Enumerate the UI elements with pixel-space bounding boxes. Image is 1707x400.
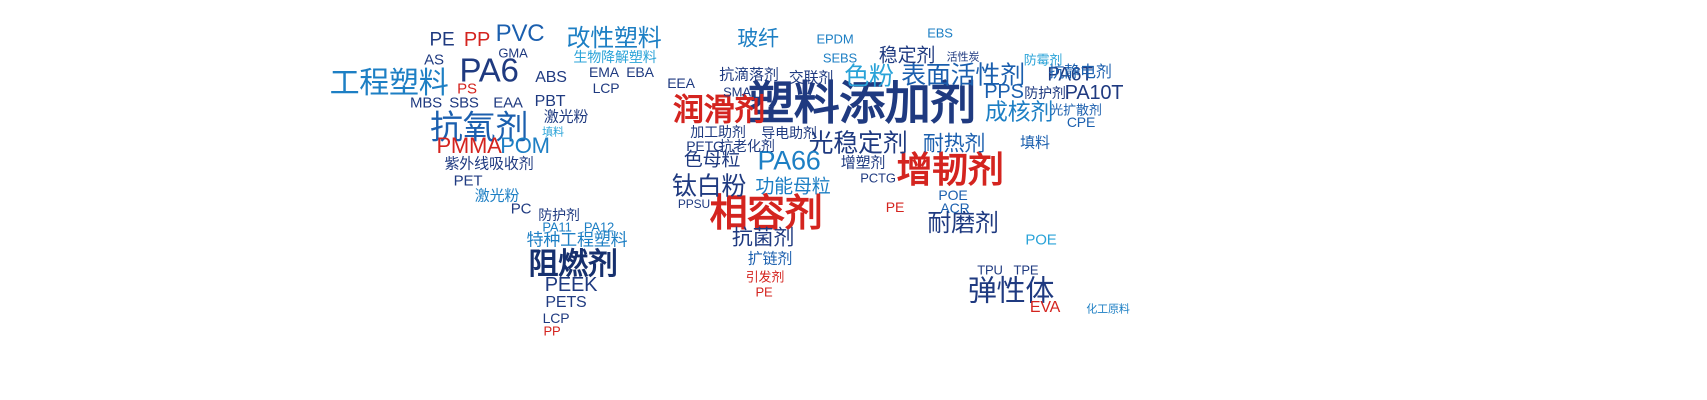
- wordcloud-term[interactable]: EVA: [1030, 300, 1060, 316]
- wordcloud-term[interactable]: 功能母粒: [755, 178, 830, 197]
- wordcloud-term[interactable]: 紫外线吸收剂: [444, 157, 533, 172]
- wordcloud-term[interactable]: PETG: [686, 139, 724, 153]
- wordcloud-term[interactable]: TPE: [1014, 264, 1039, 277]
- wordcloud-term[interactable]: 防霉剂: [1024, 54, 1063, 67]
- wordcloud-term[interactable]: PETS: [545, 295, 586, 311]
- wordcloud-term[interactable]: PPSU: [678, 198, 710, 210]
- wordcloud-term[interactable]: 色粉: [844, 65, 894, 90]
- wordcloud-term[interactable]: 抗老化剂: [719, 139, 774, 153]
- wordcloud-term[interactable]: 化工原料: [1086, 305, 1130, 316]
- wordcloud-term[interactable]: SEBS: [823, 52, 857, 65]
- wordcloud-term[interactable]: 抗菌剂: [732, 228, 794, 249]
- wordcloud-term[interactable]: 润滑剂: [673, 95, 765, 126]
- wordcloud-term[interactable]: PP: [464, 30, 490, 50]
- wordcloud-term[interactable]: ACR: [940, 201, 969, 215]
- wordcloud-term[interactable]: 填料: [542, 128, 564, 139]
- wordcloud-term[interactable]: 耐热剂: [923, 134, 985, 155]
- wordcloud-term[interactable]: 成核剂: [985, 101, 1053, 124]
- wordcloud-term[interactable]: PP: [543, 325, 560, 338]
- wordcloud-term[interactable]: 生物降解塑料: [573, 50, 656, 64]
- wordcloud-term[interactable]: PE: [755, 286, 772, 299]
- wordcloud-term[interactable]: PE: [886, 200, 904, 214]
- wordcloud-term[interactable]: 扩链剂: [748, 252, 793, 267]
- wordcloud-term[interactable]: 稳定剂: [879, 47, 935, 66]
- wordcloud-term[interactable]: 增韧剂: [897, 152, 1004, 188]
- wordcloud-term[interactable]: 填料: [1020, 136, 1050, 151]
- wordcloud-term[interactable]: 防护剂: [1024, 86, 1066, 100]
- wordcloud-term[interactable]: PS: [457, 82, 477, 97]
- wordcloud-term[interactable]: 激光粉: [544, 110, 589, 125]
- wordcloud-term[interactable]: PBT: [535, 94, 566, 110]
- wordcloud-term[interactable]: PA10T: [1065, 83, 1124, 103]
- wordcloud-term[interactable]: PMMA: [436, 135, 501, 157]
- wordcloud-term[interactable]: TPU: [977, 264, 1003, 277]
- wordcloud-term[interactable]: ABS: [535, 70, 567, 86]
- wordcloud-term[interactable]: SBS: [449, 96, 479, 111]
- wordcloud-term[interactable]: AS: [424, 53, 444, 68]
- wordcloud-term[interactable]: EPDM: [816, 33, 853, 46]
- wordcloud-term[interactable]: PPS: [984, 82, 1023, 102]
- wordcloud-term[interactable]: 增塑剂: [841, 156, 886, 171]
- wordcloud-term[interactable]: PET: [454, 174, 483, 189]
- wordcloud-term[interactable]: LCP: [593, 81, 620, 95]
- wordcloud-term[interactable]: GMA: [498, 47, 527, 60]
- wordcloud-term[interactable]: 玻纤: [737, 29, 779, 50]
- wordcloud-term[interactable]: 改性塑料: [566, 27, 661, 51]
- wordcloud-term[interactable]: EEA: [667, 76, 695, 90]
- wordcloud-term[interactable]: 抗滴落剂: [719, 68, 778, 83]
- wordcloud-term[interactable]: EBS: [927, 27, 953, 40]
- wordcloud-term[interactable]: EAA: [493, 96, 523, 111]
- wordcloud-term[interactable]: 光稳定剂: [808, 132, 907, 157]
- wordcloud-term[interactable]: EMA: [589, 65, 619, 79]
- wordcloud-canvas: 塑料添加剂相容剂增韧剂润滑剂阻燃剂抗氧剂工程塑料PA6弹性体表面活性剂光稳定剂P…: [0, 0, 1707, 400]
- wordcloud-term[interactable]: PC: [511, 202, 532, 217]
- wordcloud-term[interactable]: 引发剂: [746, 271, 785, 284]
- wordcloud-term[interactable]: 加工助剂: [690, 125, 745, 139]
- wordcloud-term[interactable]: 钛白粉: [672, 175, 746, 200]
- wordcloud-term[interactable]: PEEK: [545, 275, 598, 295]
- wordcloud-term[interactable]: 交联剂: [789, 71, 834, 86]
- wordcloud-term[interactable]: PA12: [584, 221, 614, 234]
- wordcloud-term[interactable]: EBA: [626, 65, 654, 79]
- wordcloud-term[interactable]: PA11: [542, 221, 571, 234]
- wordcloud-term[interactable]: SMA: [723, 86, 751, 99]
- wordcloud-term[interactable]: PE: [430, 31, 455, 50]
- wordcloud-term[interactable]: MBS: [410, 96, 442, 111]
- wordcloud-term[interactable]: PCTG: [860, 172, 896, 185]
- wordcloud-term[interactable]: 活性炭: [947, 53, 980, 64]
- wordcloud-term[interactable]: POE: [1025, 233, 1056, 248]
- wordcloud-term[interactable]: 导电助剂: [761, 126, 816, 140]
- wordcloud-term[interactable]: PVC: [496, 22, 545, 46]
- wordcloud-term[interactable]: CPE: [1067, 115, 1095, 129]
